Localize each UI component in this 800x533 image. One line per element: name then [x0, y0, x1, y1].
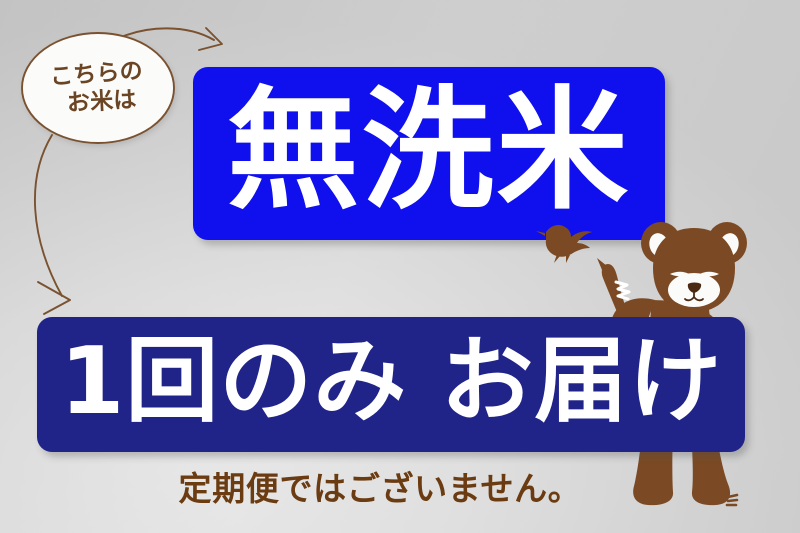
poster-canvas: こちらの お米は — [0, 0, 800, 533]
banner-musenmai: 無洗米 — [193, 67, 665, 240]
banner-top-text: 無洗米 — [227, 85, 631, 217]
banner-bottom-text: 1回のみ お届け — [60, 335, 723, 428]
callout-line-1: こちらの — [49, 57, 144, 90]
subtitle-text: 定期便ではございません。 — [0, 462, 760, 510]
callout-line-2: お米は — [66, 87, 137, 117]
callout-bubble: こちらの お米は — [22, 33, 174, 143]
banner-delivery-once: 1回のみ お届け — [37, 317, 745, 452]
callout-bubble-text: こちらの お米は — [22, 33, 174, 143]
